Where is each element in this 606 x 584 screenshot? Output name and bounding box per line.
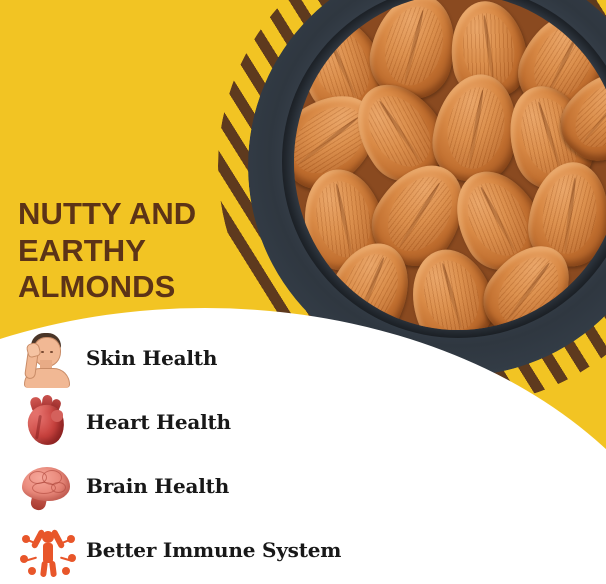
- torso-shape: [43, 543, 53, 563]
- leg-right: [49, 561, 57, 578]
- vitality-person-icon: [18, 521, 78, 579]
- leg-left: [40, 561, 48, 578]
- list-item: Heart Health: [0, 390, 400, 454]
- title-line-1: NUTTY AND: [18, 196, 268, 233]
- heart-organ-icon: [18, 393, 78, 451]
- spark-dot: [28, 567, 36, 575]
- benefit-label: Heart Health: [86, 410, 231, 434]
- benefit-label: Skin Health: [86, 346, 217, 370]
- title-line-2: EARTHY: [18, 233, 268, 270]
- brain-organ-icon: [18, 457, 78, 515]
- almond-cluster: [294, 0, 606, 330]
- list-item: Better Immune System: [0, 518, 400, 582]
- brain-fold: [51, 482, 66, 493]
- face-skin-icon: [18, 329, 78, 387]
- list-item: Skin Health: [0, 326, 400, 390]
- spark-dot: [62, 567, 70, 575]
- almond-benefits-poster: NUTTY AND EARTHY ALMONDS Skin Health: [0, 0, 606, 584]
- benefit-label: Brain Health: [86, 474, 229, 498]
- page-title: NUTTY AND EARTHY ALMONDS: [18, 196, 268, 306]
- head-shape: [42, 531, 54, 543]
- heart-auricle: [51, 410, 63, 422]
- benefits-list: Skin Health Heart Health Brain: [0, 326, 400, 582]
- list-item: Brain Health: [0, 454, 400, 518]
- title-line-3: ALMONDS: [18, 269, 268, 306]
- benefit-label: Better Immune System: [86, 538, 341, 562]
